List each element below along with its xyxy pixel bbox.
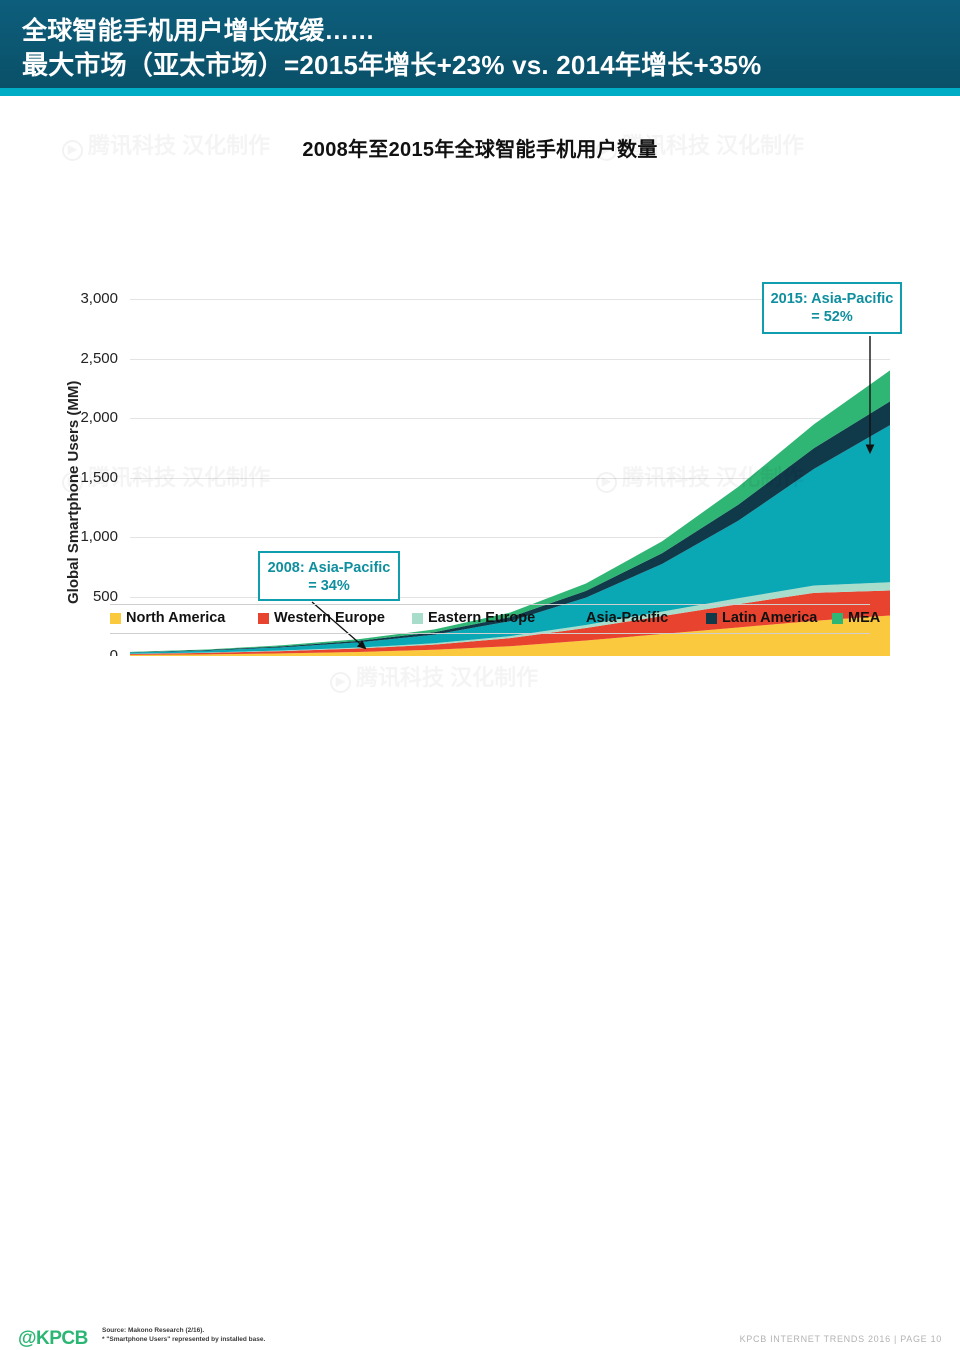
kpcb-logo: @KPCB: [18, 1328, 88, 1350]
legend-label: MEA: [848, 610, 880, 626]
chart-area: Global Smartphone Users (MM) 05001,0001,…: [0, 96, 960, 656]
callout-2015: 2015: Asia-Pacific = 52%: [762, 282, 902, 334]
header-title-line1: 全球智能手机用户增长放缓……: [22, 11, 375, 47]
source-note-line1: Source: Makono Research (2/16).: [102, 1326, 265, 1335]
callout-2015-arrow: [862, 334, 902, 474]
footer-deck-label: KPCB INTERNET TRENDS 2016 | PAGE 10: [740, 1334, 942, 1344]
header-accent-stripe: [0, 88, 960, 96]
legend-swatch-icon: [832, 613, 843, 624]
legend-item-latin-america[interactable]: Latin America: [706, 610, 817, 626]
legend-item-asia-pacific[interactable]: Asia-Pacific: [570, 610, 668, 626]
legend-item-north-america[interactable]: North America: [110, 610, 225, 626]
header-title-line2: 最大市场（亚太市场）=2015年增长+23% vs. 2014年增长+35%: [22, 45, 762, 82]
legend-swatch-icon: [706, 613, 717, 624]
chart-legend: North AmericaWestern EuropeEastern Europ…: [110, 604, 870, 634]
slide-header-bar: 全球智能手机用户增长放缓…… 最大市场（亚太市场）=2015年增长+23% vs…: [0, 0, 960, 88]
legend-swatch-icon: [570, 613, 581, 624]
stacked-area-plot: [130, 299, 890, 656]
legend-label: Latin America: [722, 610, 817, 626]
legend-label: Asia-Pacific: [586, 610, 668, 626]
y-tick-label: 2,000: [0, 409, 118, 426]
legend-label: Eastern Europe: [428, 610, 535, 626]
y-tick-label: 2,500: [0, 350, 118, 367]
y-tick-label: 1,500: [0, 469, 118, 486]
y-tick-label: 3,000: [0, 290, 118, 307]
legend-swatch-icon: [258, 613, 269, 624]
legend-swatch-icon: [412, 613, 423, 624]
y-tick-label: 1,000: [0, 528, 118, 545]
callout-2008: 2008: Asia-Pacific = 34%: [258, 551, 400, 601]
legend-item-eastern-europe[interactable]: Eastern Europe: [412, 610, 535, 626]
legend-label: North America: [126, 610, 225, 626]
legend-item-mea[interactable]: MEA: [832, 610, 880, 626]
source-note-line2: * "Smartphone Users" represented by inst…: [102, 1335, 265, 1344]
area-series-svg: [130, 299, 890, 656]
slide-footer: @KPCB Source: Makono Research (2/16). * …: [0, 656, 960, 713]
legend-item-western-europe[interactable]: Western Europe: [258, 610, 385, 626]
legend-swatch-icon: [110, 613, 121, 624]
source-note: Source: Makono Research (2/16). * "Smart…: [102, 1326, 265, 1344]
y-tick-label: 500: [0, 588, 118, 605]
legend-label: Western Europe: [274, 610, 385, 626]
